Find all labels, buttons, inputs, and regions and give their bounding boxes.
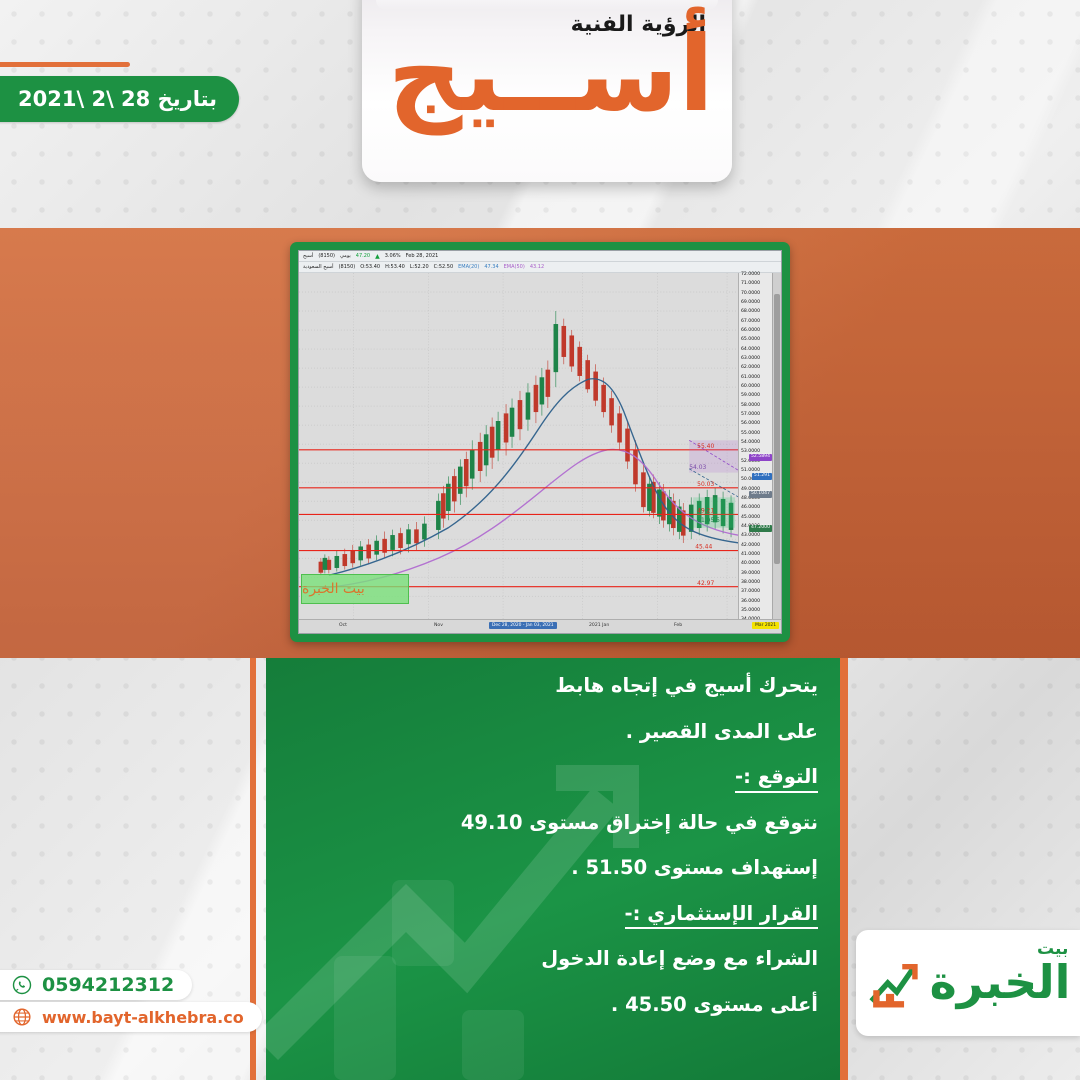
whatsapp-icon <box>12 975 32 995</box>
analysis-line-2: على المدى القصير . <box>284 722 818 742</box>
price-axis-tick: 36.0000 <box>741 600 760 605</box>
date-tick-feb: Feb <box>674 623 682 628</box>
scrollbar-thumb[interactable] <box>774 294 780 564</box>
chart-symbol-ar: أسيج <box>303 253 313 259</box>
forecast-heading-wrap: التوقع :- <box>284 767 818 791</box>
svg-text:50.03: 50.03 <box>697 482 714 488</box>
chart-header-line-2: أسيج السعودية (8150) O:53.40 H:53.40 L:5… <box>299 262 781 273</box>
svg-text:49.21: 49.21 <box>697 509 714 515</box>
price-axis-tick: 41.0000 <box>741 553 760 558</box>
decision-heading: القرار الإستثماري :- <box>625 904 818 928</box>
chart-company-code: (8150) <box>339 264 356 270</box>
title-card-sheen <box>376 0 718 10</box>
date-range-selected[interactable]: Dec 28, 2020 - Jan 03, 2021 <box>489 622 557 629</box>
title-main: أســيج <box>388 22 714 126</box>
svg-text:45.44: 45.44 <box>695 545 712 551</box>
title-card: الرؤية الفنية أســيج <box>362 0 732 182</box>
date-accent-rule <box>0 62 130 67</box>
price-axis-tick: 71.0000 <box>741 282 760 287</box>
svg-text:54.03: 54.03 <box>689 465 706 471</box>
analysis-line-1: يتحرك أسيج في إتجاه هابط <box>284 676 818 696</box>
price-axis-tick: 66.0000 <box>741 329 760 334</box>
price-axis-tick: 56.0000 <box>741 422 760 427</box>
price-axis-tick: 60.0000 <box>741 385 760 390</box>
panel-right-orange-rail <box>840 658 848 1080</box>
brand-logo-top-word: بيت <box>1037 942 1068 957</box>
website-url: www.bayt-alkhebra.co <box>42 1008 244 1027</box>
growth-arrow-icon <box>866 954 924 1012</box>
date-end-tag: Mar 2021 <box>752 622 779 629</box>
poster-canvas: بتاريخ 28 \2 \2021 الرؤية الفنية أســيج … <box>0 0 1080 1080</box>
price-axis-tick: 46.0000 <box>741 506 760 511</box>
price-axis-tick: 62.0000 <box>741 366 760 371</box>
chart-window[interactable]: أسيج (8150) يومي 47.20 ▲ 3.06% Feb 28, 2… <box>298 250 782 634</box>
analysis-panel: يتحرك أسيج في إتجاه هابط على المدى القصي… <box>266 658 840 1080</box>
price-axis-tick: 59.0000 <box>741 394 760 399</box>
date-badge: بتاريخ 28 \2 \2021 <box>0 76 239 122</box>
chart-change-percent: 3.06% <box>385 253 401 259</box>
chart-plot-area[interactable]: 55.40 50.03 49.21 45.44 42.97 54.03 51.0… <box>299 273 739 619</box>
price-axis-tick: 68.0000 <box>741 310 760 315</box>
analysis-text-block: يتحرك أسيج في إتجاه هابط على المدى القصي… <box>284 676 818 1040</box>
price-axis-tick: 54.0000 <box>741 441 760 446</box>
brand-logo-text: بيت الخبرة <box>930 962 1071 1003</box>
date-tick-jan: 2021 Jan <box>589 623 609 628</box>
price-axis-tick: 72.0000 <box>741 273 760 278</box>
price-axis-tick: 64.0000 <box>741 348 760 353</box>
chart-ohlc-close: C:52.50 <box>434 264 454 270</box>
brand-logo-card: بيت الخبرة <box>856 930 1080 1036</box>
price-axis-tick: 65.0000 <box>741 338 760 343</box>
price-axis-tick: 35.0000 <box>741 609 760 614</box>
price-tag: 47.2000 <box>749 525 772 532</box>
chart-up-arrow-icon: ▲ <box>375 253 380 260</box>
analysis-line-5: إستهداف مستوى 51.50 . <box>284 858 818 878</box>
price-tag: 52.5894 <box>749 454 772 461</box>
date-tick-oct: Oct <box>339 623 347 628</box>
price-axis-tick: 42.0000 <box>741 544 760 549</box>
chart-frame: أسيج (8150) يومي 47.20 ▲ 3.06% Feb 28, 2… <box>290 242 790 642</box>
price-axis-tick: 45.0000 <box>741 516 760 521</box>
price-axis-tick: 39.0000 <box>741 572 760 577</box>
whatsapp-number: 0594212312 <box>42 974 174 996</box>
price-axis-tick: 57.0000 <box>741 413 760 418</box>
price-axis-tick: 48.0000 <box>741 497 760 502</box>
chart-price-axis[interactable]: 72.000071.000070.000069.000068.000067.00… <box>738 273 773 619</box>
price-axis-tick: 69.0000 <box>741 301 760 306</box>
chart-ema20-value: 47.34 <box>484 264 498 270</box>
forecast-heading: التوقع :- <box>735 767 818 791</box>
price-axis-tick: 40.0000 <box>741 562 760 567</box>
chart-arabic-watermark: بيت الخبرة <box>301 574 409 604</box>
chart-date-axis[interactable]: Oct Nov Dec 28, 2020 - Jan 03, 2021 2021… <box>299 619 781 633</box>
price-axis-tick: 43.0000 <box>741 534 760 539</box>
analysis-line-4: نتوقع في حالة إختراق مستوى 49.10 <box>284 813 818 833</box>
chart-ema50-label: EMA(50) <box>504 264 525 270</box>
svg-text:42.97: 42.97 <box>697 581 714 587</box>
price-axis-tick: 70.0000 <box>741 292 760 297</box>
chart-ema50-value: 43.12 <box>530 264 544 270</box>
chart-symbol-code: (8150) <box>318 253 335 259</box>
analysis-line-7: الشراء مع وضع إعادة الدخول <box>284 949 818 969</box>
chart-header-line-1: أسيج (8150) يومي 47.20 ▲ 3.06% Feb 28, 2… <box>299 251 781 262</box>
price-axis-tick: 67.0000 <box>741 320 760 325</box>
chart-vertical-scrollbar[interactable] <box>772 273 781 619</box>
price-tag: 51.291 <box>752 473 772 480</box>
chart-ohlc-high: H:53.40 <box>385 264 405 270</box>
svg-text:51.05.5: 51.05.5 <box>697 518 720 524</box>
chart-last-price: 47.20 <box>356 253 370 259</box>
whatsapp-contact-pill[interactable]: 0594212312 <box>0 970 192 1000</box>
price-axis-tick: 61.0000 <box>741 376 760 381</box>
chart-ema20-label: EMA(20) <box>458 264 479 270</box>
price-axis-tick: 63.0000 <box>741 357 760 362</box>
price-tag: 50.1047 <box>749 491 772 498</box>
website-contact-pill[interactable]: www.bayt-alkhebra.co <box>0 1002 262 1032</box>
brand-logo-main-word: الخبرة <box>930 955 1071 1009</box>
price-axis-tick: 58.0000 <box>741 404 760 409</box>
chart-svg: 55.40 50.03 49.21 45.44 42.97 54.03 51.0… <box>299 273 739 619</box>
price-axis-tick: 55.0000 <box>741 432 760 437</box>
svg-text:55.40: 55.40 <box>697 444 714 450</box>
price-axis-tick: 37.0000 <box>741 590 760 595</box>
price-axis-tick: 38.0000 <box>741 581 760 586</box>
globe-icon <box>12 1007 32 1027</box>
decision-heading-wrap: القرار الإستثماري :- <box>284 904 818 928</box>
date-tick-nov: Nov <box>434 623 443 628</box>
chart-ohlc-open: O:53.40 <box>360 264 380 270</box>
chart-ohlc-low: L:52.20 <box>410 264 429 270</box>
chart-timeframe: يومي <box>340 253 351 259</box>
chart-date: Feb 28, 2021 <box>406 253 439 259</box>
chart-company-name: أسيج السعودية <box>303 264 334 270</box>
analysis-line-8: أعلى مستوى 45.50 . <box>284 995 818 1015</box>
